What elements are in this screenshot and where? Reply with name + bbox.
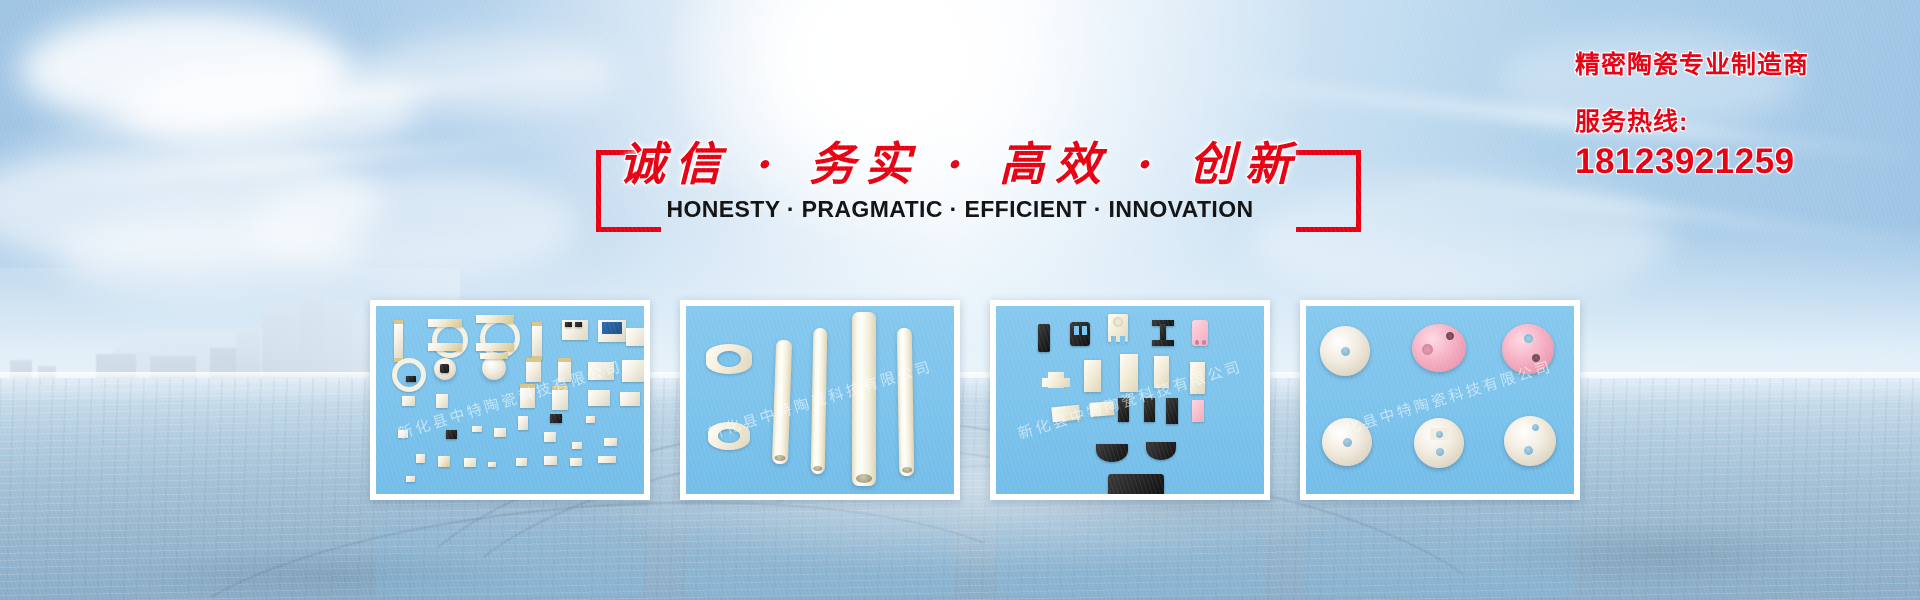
contact-block: 精密陶瓷专业制造商 服务热线: 18123921259 — [1575, 52, 1915, 182]
panel-reflection — [370, 500, 650, 596]
panel-ceramic-tubes-rings[interactable]: 新化县中特陶瓷科技有限公司 — [680, 300, 960, 500]
panel-image-area: 新化县中特陶瓷科技有限公司 — [996, 306, 1264, 494]
hotline-label: 服务热线: — [1575, 102, 1915, 138]
panel-smd-chip-components[interactable]: 新化县中特陶瓷科技有限公司 — [370, 300, 650, 500]
panel-reflection — [680, 500, 960, 596]
panel-reflection — [1300, 500, 1580, 596]
panel-image-area: 新化县中特陶瓷科技有限公司 — [1306, 306, 1574, 494]
panel-image-area: 新化县中特陶瓷科技有限公司 — [376, 306, 644, 494]
panel-ceramic-discs[interactable]: 新化县中特陶瓷科技有限公司 — [1300, 300, 1580, 500]
company-tagline: 精密陶瓷专业制造商 — [1575, 52, 1915, 80]
panel-image-area: 新化县中特陶瓷科技有限公司 — [686, 306, 954, 494]
hotline-number[interactable]: 18123921259 — [1575, 142, 1915, 182]
slogan-english: HONESTY · PRAGMATIC · EFFICIENT · INNOVA… — [0, 196, 1920, 223]
panel-ceramic-blocks[interactable]: 新化县中特陶瓷科技有限公司 — [990, 300, 1270, 500]
panel-reflection — [990, 500, 1270, 596]
hero-banner: 诚信 · 务实 · 高效 · 创新 HONESTY · PRAGMATIC · … — [0, 0, 1920, 600]
